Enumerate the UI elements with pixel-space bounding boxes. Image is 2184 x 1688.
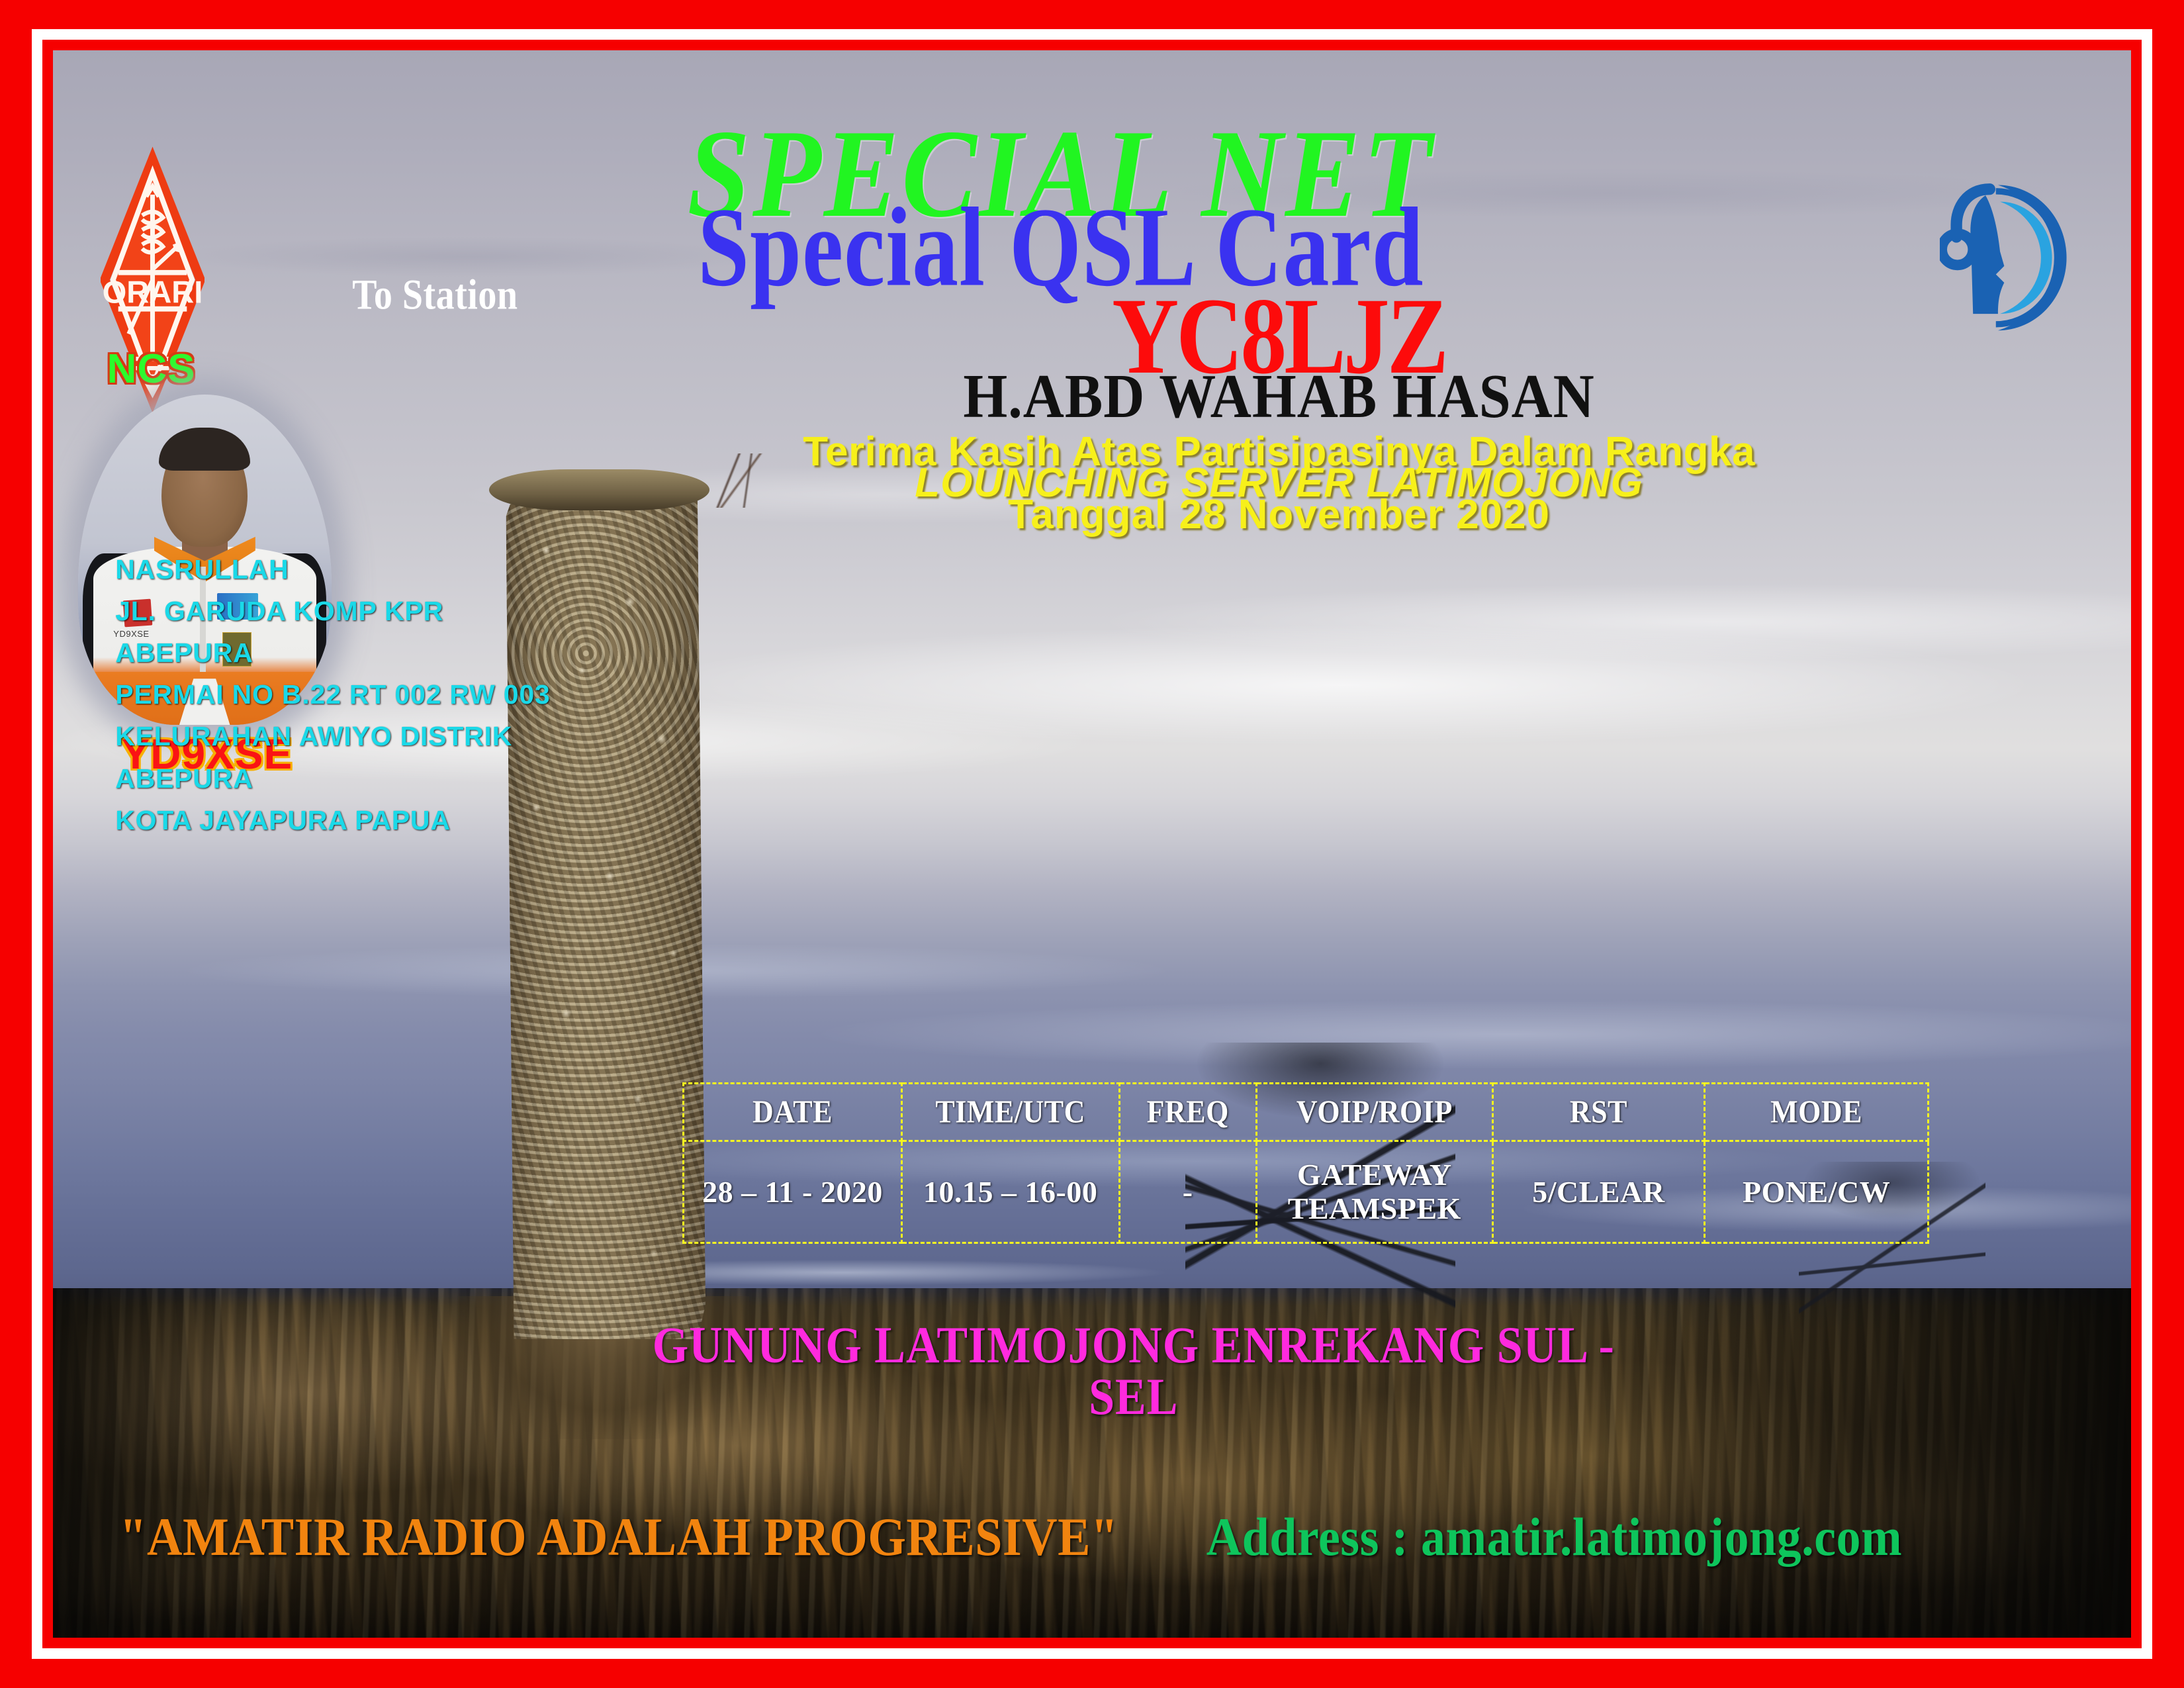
location-caption: GUNUNG LATIMOJONG ENREKANG SUL - SEL (635, 1320, 1632, 1424)
monument-cap (489, 469, 709, 510)
column-header-date: DATE (684, 1080, 901, 1144)
headphone-profile-logo (1940, 98, 2085, 416)
footer-slogan: "AMATIR RADIO ADALAH PROGRESIVE" (119, 1511, 1118, 1564)
column-header-rst: RST (1493, 1080, 1705, 1144)
qsl-card: ORARI SPECIAL NET Special Q (0, 0, 2184, 1688)
address-line: KOTA JAYAPURA PAPUA (115, 800, 655, 841)
cell-rst: 5/CLEAR (1493, 1141, 1705, 1243)
cell-mode: PONE/CW (1704, 1141, 1929, 1243)
cell-date: 28 – 11 - 2020 (684, 1141, 901, 1243)
address-line: NASRULLAH (115, 549, 655, 590)
card-inner-red-border: ORARI SPECIAL NET Special Q (42, 40, 2142, 1648)
orari-logo-text: ORARI (103, 274, 203, 309)
operator-name: H.ABD WAHAB HASAN (780, 365, 1778, 428)
column-header-mode: MODE (1704, 1080, 1929, 1144)
qso-log-table: DATE TIME/UTC FREQ VOIP/ROIP RST MODE 28… (682, 1082, 1929, 1244)
address-line: ABEPURA (115, 758, 655, 800)
footer-website: Address : amatir.latimojong.com (1206, 1511, 1902, 1564)
column-header-freq: FREQ (1119, 1080, 1256, 1144)
address-line: KELURAHAN AWIYO DISTRIK (115, 716, 655, 757)
address-line: ABEPURA (115, 632, 655, 674)
foreground-shadow-left (53, 1288, 261, 1638)
card-white-band: ORARI SPECIAL NET Special Q (32, 29, 2152, 1659)
event-date-line: Tanggal 28 November 2020 (739, 494, 1819, 536)
card-photo-background: ORARI SPECIAL NET Special Q (53, 50, 2131, 1638)
address-block: NASRULLAH JL. GARUDA KOMP KPR ABEPURA PE… (115, 549, 655, 841)
table-row: 28 – 11 - 2020 10.15 – 16-00 - GATEWAY T… (684, 1141, 1929, 1243)
table-header-row: DATE TIME/UTC FREQ VOIP/ROIP RST MODE (684, 1083, 1929, 1141)
column-header-time: TIME/UTC (901, 1080, 1119, 1144)
cell-voip-roip-line1: GATEWAY (1297, 1158, 1452, 1192)
to-station-label: To Station (352, 271, 518, 320)
ncs-label: NCS (107, 346, 196, 393)
cell-freq: - (1119, 1141, 1256, 1243)
address-line: JL. GARUDA KOMP KPR (115, 590, 655, 632)
address-line: PERMAI NO B.22 RT 002 RW 003 (115, 674, 655, 716)
cell-time: 10.15 – 16-00 (901, 1141, 1119, 1243)
cell-voip-roip: GATEWAY TEAMSPEK (1256, 1141, 1492, 1243)
column-header-voip-roip: VOIP/ROIP (1256, 1080, 1492, 1144)
cell-voip-roip-line2: TEAMSPEK (1288, 1192, 1461, 1225)
